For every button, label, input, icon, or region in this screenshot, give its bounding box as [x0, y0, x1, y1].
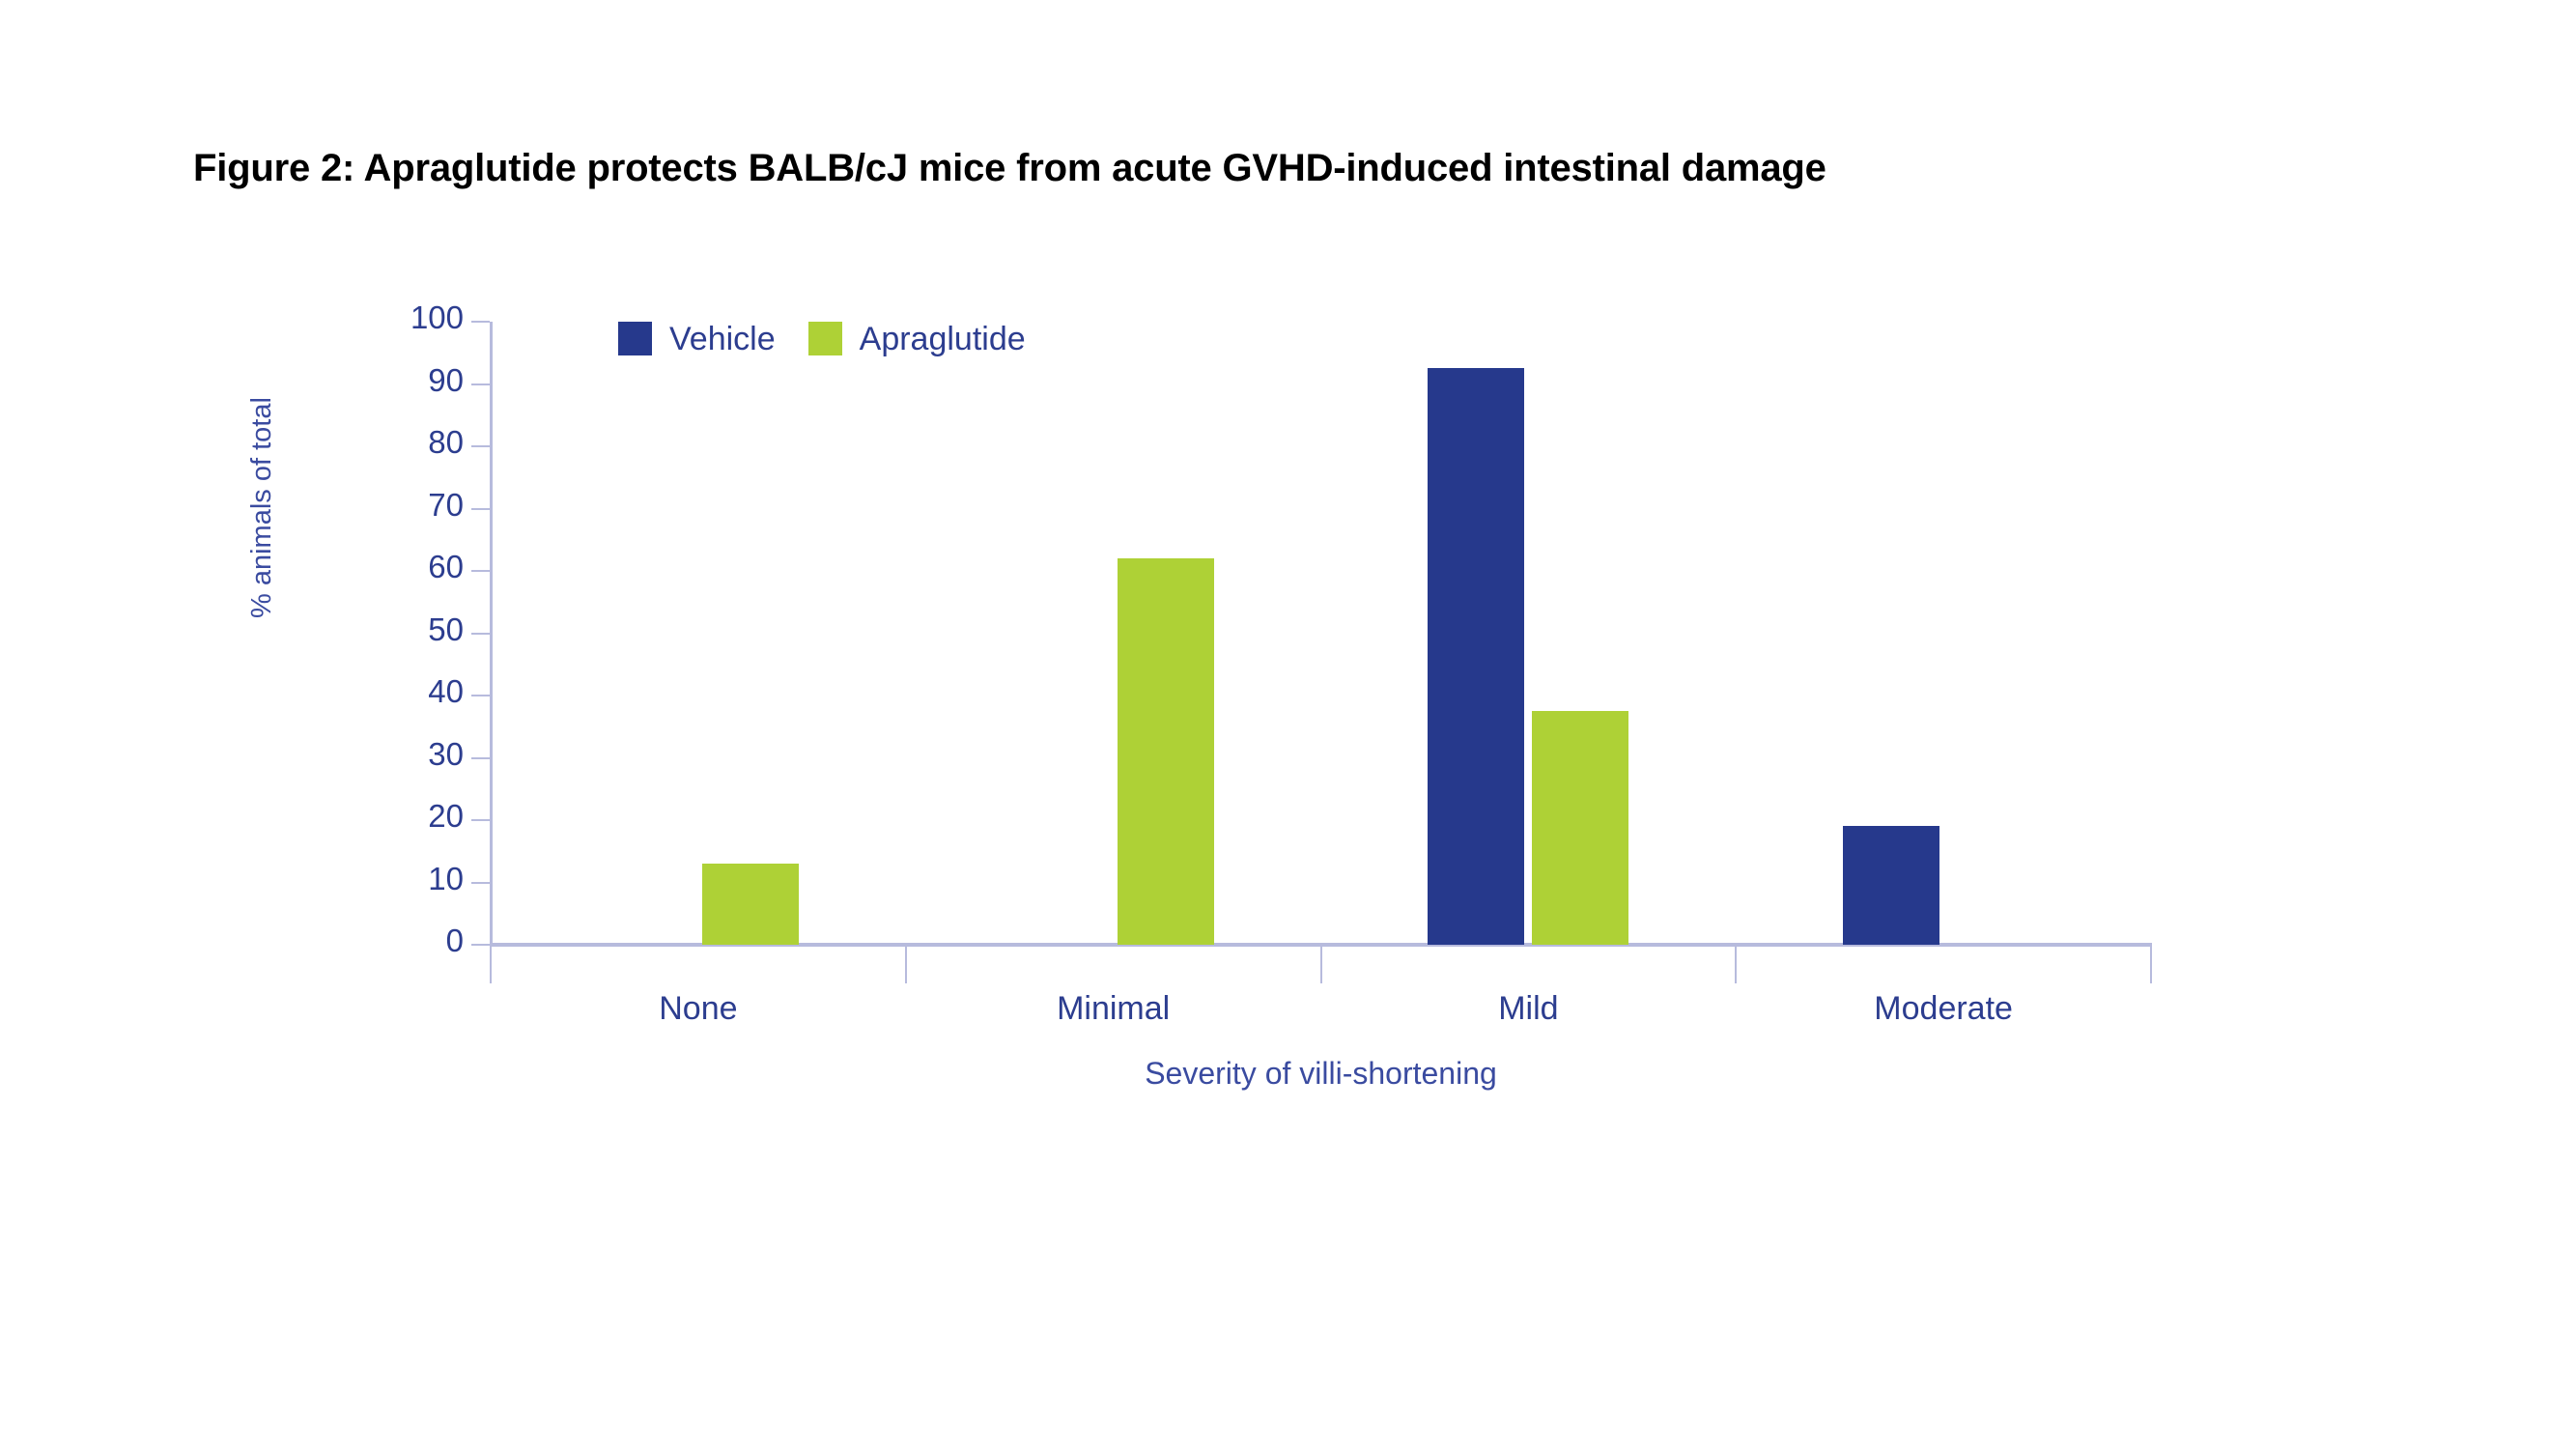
- y-axis-tick-label: 20: [428, 798, 464, 835]
- y-axis-tick: [471, 882, 490, 884]
- chart-legend: VehicleApraglutide: [618, 322, 1026, 355]
- legend-item-label: Vehicle: [669, 323, 776, 355]
- figure-container: Figure 2: Apraglutide protects BALB/cJ m…: [0, 0, 2576, 1449]
- bar-apraglutide-minimal: [1118, 558, 1214, 945]
- x-axis-separator: [905, 947, 907, 983]
- x-axis-separator: [1735, 947, 1737, 983]
- y-axis-tick-label: 30: [428, 736, 464, 773]
- y-axis-tick-label: 60: [428, 549, 464, 585]
- x-axis-separator: [2150, 947, 2152, 983]
- y-axis-tick-label: 80: [428, 424, 464, 461]
- page-title: Figure 2: Apraglutide protects BALB/cJ m…: [193, 147, 1826, 190]
- x-axis-separator: [1320, 947, 1322, 983]
- plot-area: [491, 322, 2151, 945]
- y-axis-tick-label: 40: [428, 673, 464, 710]
- y-axis-tick: [471, 819, 490, 821]
- y-axis-tick-label: 100: [410, 299, 464, 336]
- legend-swatch-icon: [618, 322, 652, 355]
- legend-item-label: Apraglutide: [860, 323, 1026, 355]
- y-axis-tick-label: 0: [446, 923, 464, 959]
- y-axis-tick: [471, 944, 490, 946]
- y-axis-tick-label: 50: [428, 611, 464, 648]
- bar-vehicle-moderate: [1843, 826, 1939, 945]
- bar-apraglutide-mild: [1532, 711, 1628, 945]
- x-axis-tick-label: Minimal: [906, 990, 1321, 1028]
- y-axis-tick: [471, 384, 490, 385]
- y-axis-tick: [471, 633, 490, 635]
- y-axis-tick: [471, 321, 490, 323]
- y-axis-tick: [471, 508, 490, 510]
- legend-item-apraglutide[interactable]: Apraglutide: [808, 322, 1026, 355]
- x-axis-separator: [490, 947, 492, 983]
- y-axis-tick-label: 70: [428, 487, 464, 524]
- x-axis-tick-label: Mild: [1321, 990, 1737, 1028]
- y-axis-tick: [471, 445, 490, 447]
- y-axis-tick: [471, 695, 490, 696]
- y-axis-title: % animals of total: [246, 397, 278, 618]
- x-axis-title: Severity of villi-shortening: [491, 1056, 2151, 1092]
- y-axis-tick: [471, 757, 490, 759]
- y-axis-tick: [471, 570, 490, 572]
- legend-item-vehicle[interactable]: Vehicle: [618, 322, 776, 355]
- y-axis-tick-label: 10: [428, 861, 464, 897]
- bar-vehicle-mild: [1428, 368, 1524, 945]
- y-axis-tick-label: 90: [428, 362, 464, 399]
- bar-apraglutide-none: [702, 864, 799, 945]
- legend-swatch-icon: [808, 322, 842, 355]
- x-axis-tick-label: Moderate: [1736, 990, 2151, 1028]
- x-axis-tick-label: None: [491, 990, 906, 1028]
